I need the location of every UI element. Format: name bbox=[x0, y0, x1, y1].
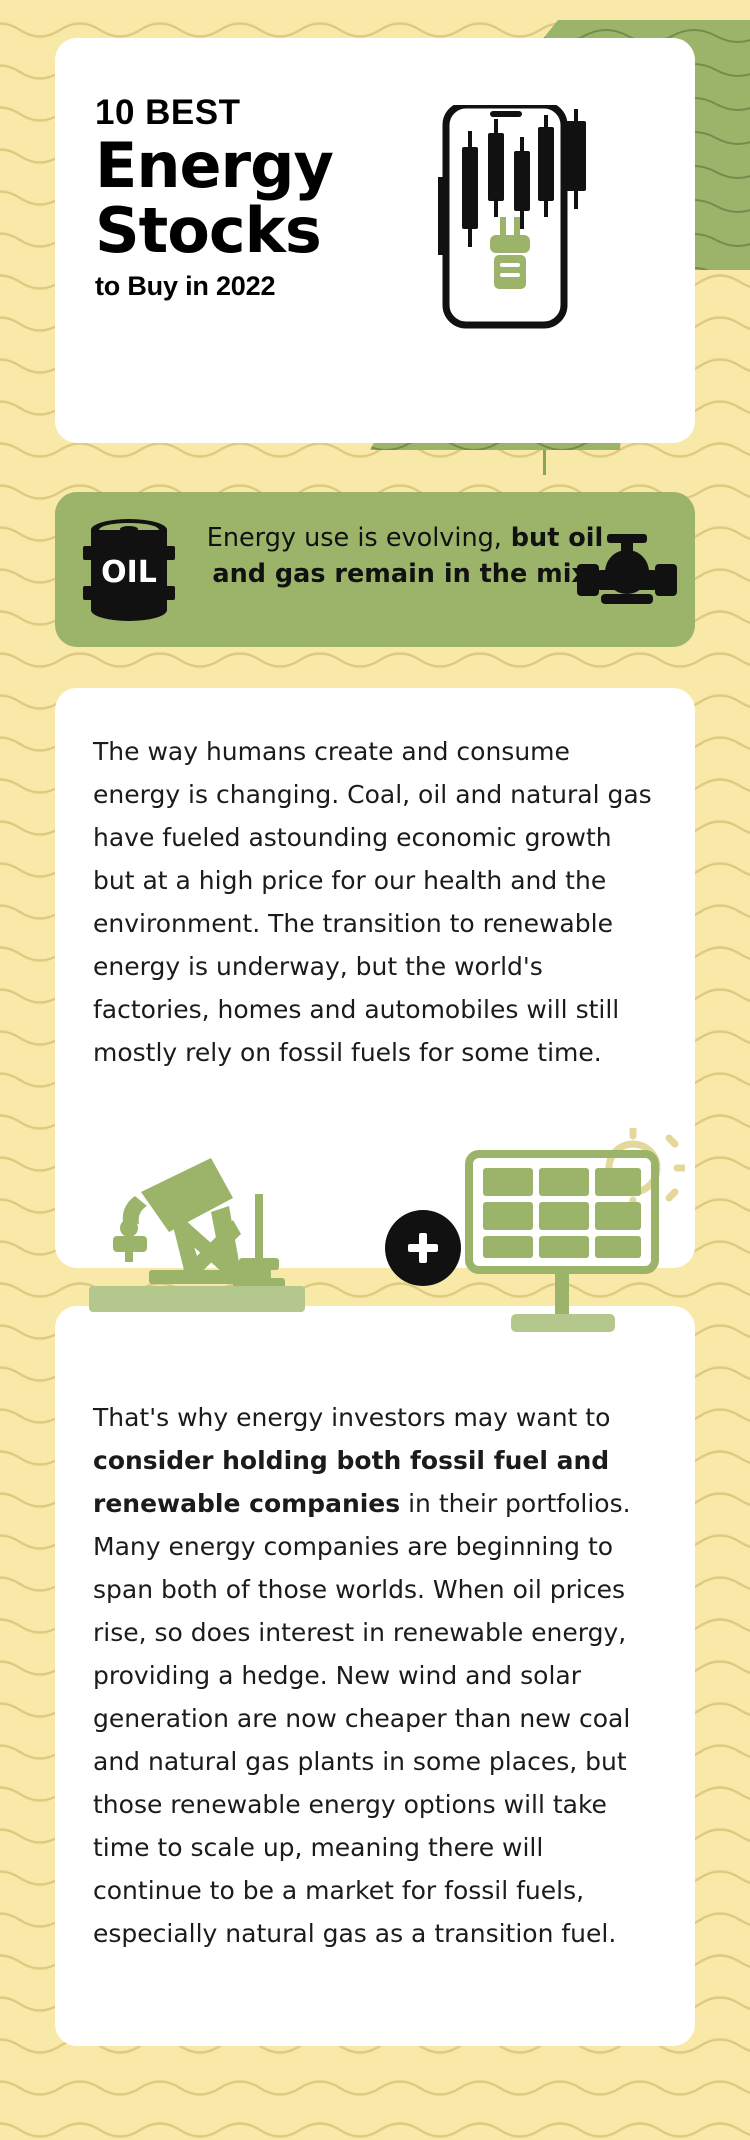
green-banner: OIL Energy use is evolving, but oil and … bbox=[55, 492, 695, 647]
paragraph-1-text: The way humans create and consume energy… bbox=[93, 730, 658, 1074]
banner-line-1-normal: Energy use is evolving, bbox=[207, 523, 502, 553]
hero-title-line-2: Stocks bbox=[95, 201, 333, 262]
infographic-page: 10 BEST Energy Stocks to Buy in 2022 bbox=[0, 0, 750, 2140]
banner-line-2-bold: and gas remain in the mix. bbox=[212, 559, 597, 589]
oil-pumpjack-icon bbox=[83, 1140, 333, 1340]
plus-icon bbox=[385, 1210, 461, 1286]
paragraph-2-text: That's why energy investors may want to … bbox=[93, 1396, 658, 1955]
banner-line-2: and gas remain in the mix. bbox=[190, 556, 620, 592]
hero-title-block: 10 BEST Energy Stocks to Buy in 2022 bbox=[95, 95, 333, 302]
paragraph-2-rest: in their portfolios. Many energy compani… bbox=[93, 1489, 631, 1948]
solar-panel-icon bbox=[455, 1128, 685, 1343]
hero-subtitle: to Buy in 2022 bbox=[95, 271, 333, 302]
pipe-valve-icon bbox=[577, 534, 677, 606]
hero-title-line-1: Energy bbox=[95, 136, 333, 197]
hero-kicker: 10 BEST bbox=[95, 95, 333, 132]
banner-line-1: Energy use is evolving, but oil bbox=[190, 520, 620, 556]
svg-text:OIL: OIL bbox=[101, 555, 157, 590]
smartphone-candlestick-chart-icon bbox=[438, 105, 588, 340]
banner-text-block: Energy use is evolving, but oil and gas … bbox=[190, 520, 620, 592]
paragraph-2-intro: That's why energy investors may want to bbox=[93, 1403, 610, 1432]
illustration-row bbox=[55, 1120, 695, 1350]
oil-barrel-icon: OIL bbox=[77, 516, 182, 624]
paragraph-card-2: That's why energy investors may want to … bbox=[55, 1306, 695, 2046]
